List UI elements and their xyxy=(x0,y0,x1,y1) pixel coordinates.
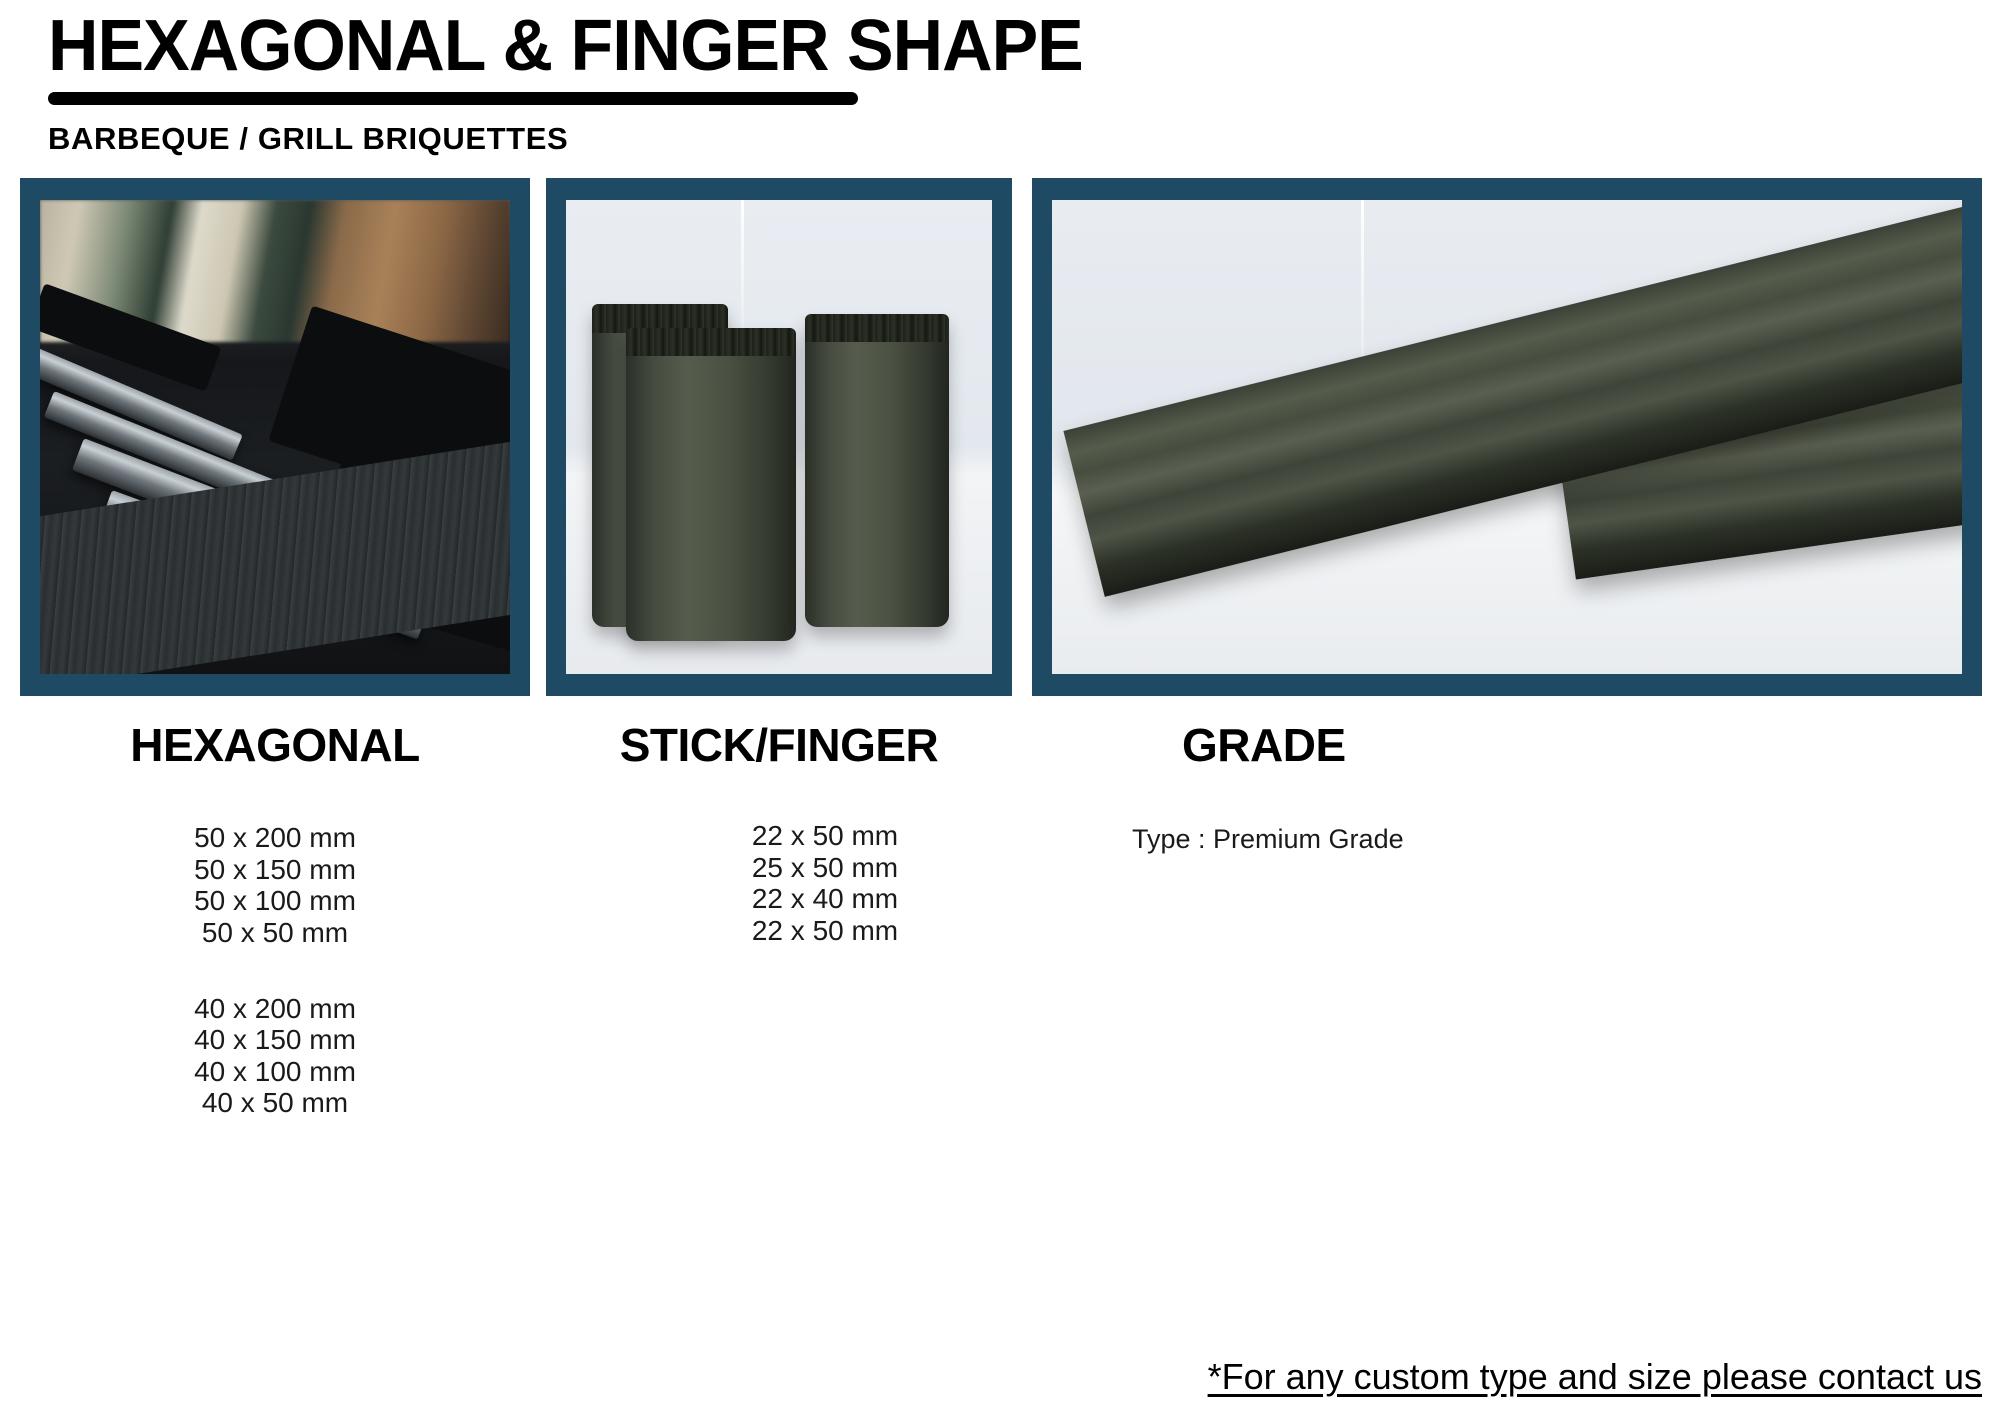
list-item: 40 x 50 mm xyxy=(20,1087,530,1119)
product-photo-row xyxy=(0,178,2000,696)
list-item: 25 x 50 mm xyxy=(638,852,1012,884)
column-hexagonal: HEXAGONAL 50 x 200 mm 50 x 150 mm 50 x 1… xyxy=(20,718,530,1119)
photo-background xyxy=(1052,200,1962,674)
page-subtitle: BARBEQUE / GRILL BRIQUETTES xyxy=(48,121,1448,157)
stick-finger-briquettes-photo xyxy=(566,200,992,674)
briquette-cylinder xyxy=(805,314,950,627)
page-title: HEXAGONAL & FINGER SHAPE xyxy=(48,10,1406,82)
page-header: HEXAGONAL & FINGER SHAPE BARBEQUE / GRIL… xyxy=(48,10,1448,157)
hexagonal-size-list: 50 x 200 mm 50 x 150 mm 50 x 100 mm 50 x… xyxy=(20,822,530,1119)
grade-photo-frame xyxy=(1032,178,1982,696)
list-item: 40 x 200 mm xyxy=(20,993,530,1025)
custom-order-note: *For any custom type and size please con… xyxy=(1208,1356,1982,1398)
title-underline-rule xyxy=(48,92,858,105)
list-item: 22 x 50 mm xyxy=(638,915,1012,947)
list-item: 50 x 150 mm xyxy=(20,854,530,886)
list-spacer xyxy=(20,949,530,993)
column-title-hexagonal: HEXAGONAL xyxy=(20,718,530,772)
list-item: 40 x 150 mm xyxy=(20,1024,530,1056)
grade-briquette-photo xyxy=(1052,200,1962,674)
list-item: 22 x 40 mm xyxy=(638,883,1012,915)
list-item: 50 x 100 mm xyxy=(20,885,530,917)
hexagonal-briquettes-photo xyxy=(40,200,510,674)
stick-photo-frame xyxy=(546,178,1012,696)
column-grade: GRADE Type : Premium Grade xyxy=(1032,718,1982,855)
photo-background xyxy=(566,200,992,674)
photo-background xyxy=(40,200,510,674)
list-item: 22 x 50 mm xyxy=(638,820,1012,852)
grade-type-value: Type : Premium Grade xyxy=(1032,824,1982,855)
list-item: 50 x 200 mm xyxy=(20,822,530,854)
column-stick-finger: STICK/FINGER 22 x 50 mm 25 x 50 mm 22 x … xyxy=(546,718,1012,947)
list-item: 50 x 50 mm xyxy=(20,917,530,949)
stick-finger-size-list: 22 x 50 mm 25 x 50 mm 22 x 40 mm 22 x 50… xyxy=(546,820,1012,947)
briquette-cylinder xyxy=(626,328,796,641)
column-title-stick-finger: STICK/FINGER xyxy=(546,718,1012,772)
list-item: 40 x 100 mm xyxy=(20,1056,530,1088)
column-title-grade: GRADE xyxy=(1032,718,1982,772)
hexagonal-photo-frame xyxy=(20,178,530,696)
